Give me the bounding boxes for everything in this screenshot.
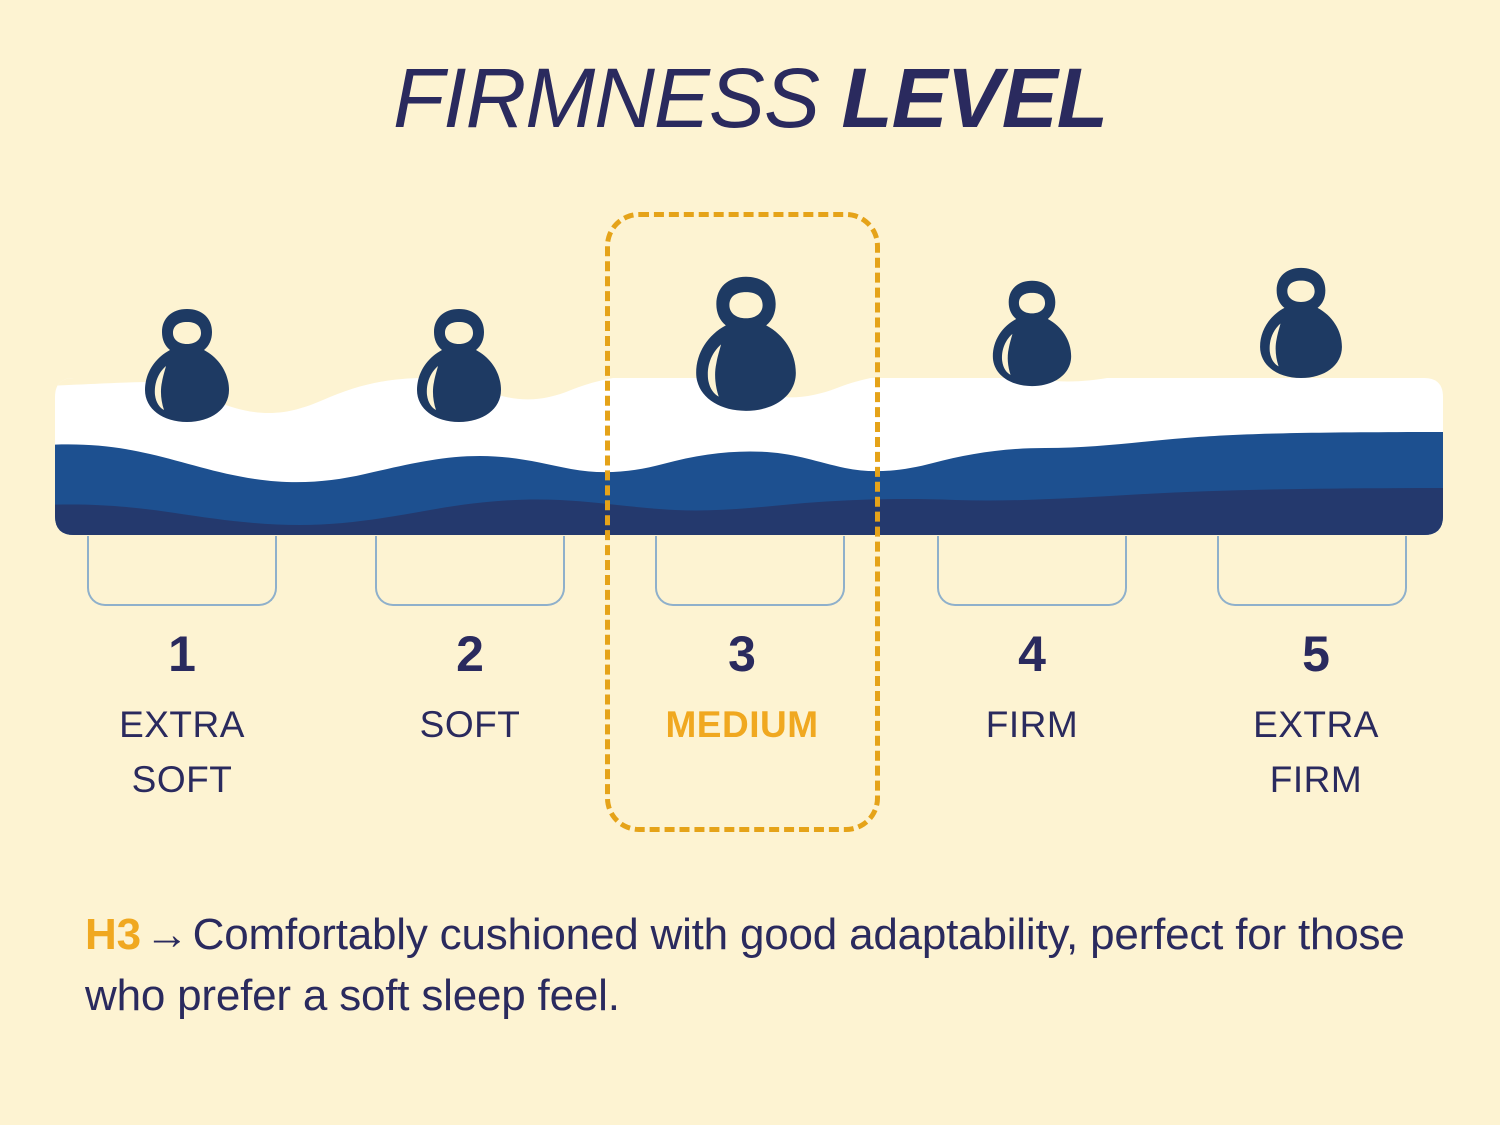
firmness-scale-labels: 1 EXTRASOFT 2 SOFT 3 MEDIUM 4 FIRM 5 EXT…	[55, 628, 1443, 828]
scale-item-3[interactable]: 3 MEDIUM	[627, 628, 857, 752]
page-title: FIRMNESS LEVEL	[0, 56, 1500, 140]
scale-item-1[interactable]: 1 EXTRASOFT	[67, 628, 297, 808]
arrow-right-icon: →	[141, 910, 193, 959]
scale-number-4: 4	[917, 628, 1147, 681]
title-part-firmness: FIRMNESS	[393, 51, 819, 145]
scale-label-3: MEDIUM	[627, 697, 857, 753]
kettlebell-icon-5	[1255, 264, 1347, 384]
scale-label-5: EXTRAFIRM	[1201, 697, 1431, 808]
title-part-level: LEVEL	[841, 51, 1107, 145]
scale-number-1: 1	[67, 628, 297, 681]
scale-item-2[interactable]: 2 SOFT	[355, 628, 585, 752]
footnote-text: Comfortably cushioned with good adaptabi…	[85, 910, 1405, 1020]
footnote-tag: H3	[85, 910, 141, 959]
scale-number-2: 2	[355, 628, 585, 681]
kettlebell-icon-4	[988, 277, 1076, 392]
kettlebell-icon-1	[140, 305, 234, 428]
scale-item-4[interactable]: 4 FIRM	[917, 628, 1147, 752]
scale-label-1: EXTRASOFT	[67, 697, 297, 808]
scale-label-4: FIRM	[917, 697, 1147, 753]
infographic-canvas: FIRMNESS LEVEL	[0, 0, 1500, 1125]
scale-item-5[interactable]: 5 EXTRAFIRM	[1201, 628, 1431, 808]
kettlebell-icon-2	[412, 305, 506, 428]
scale-label-2: SOFT	[355, 697, 585, 753]
scale-number-5: 5	[1201, 628, 1431, 681]
description-footnote: H3→Comfortably cushioned with good adapt…	[85, 905, 1415, 1026]
scale-number-3: 3	[627, 628, 857, 681]
